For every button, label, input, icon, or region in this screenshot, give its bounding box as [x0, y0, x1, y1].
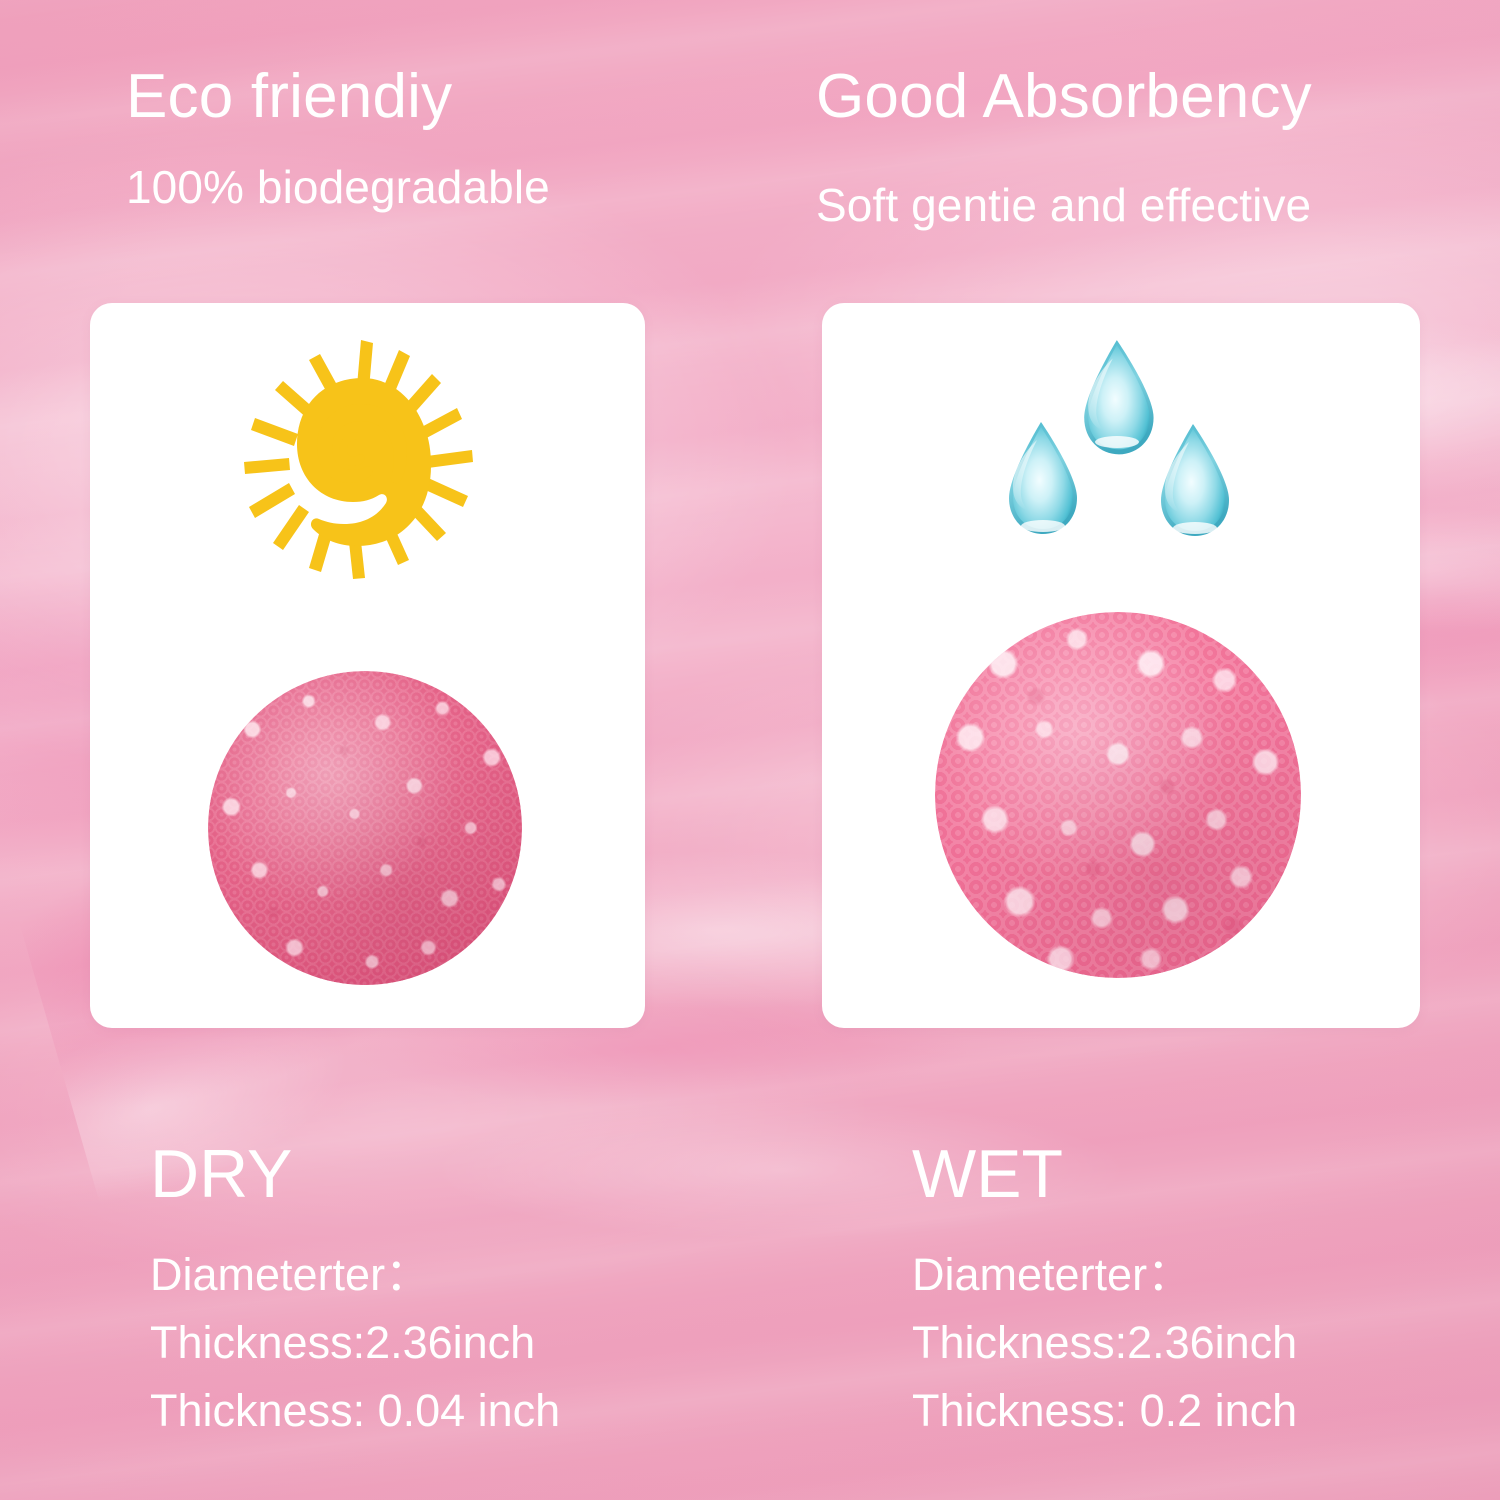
infographic-stage: Eco friendiy 100% biodegradable Good Abs… — [0, 0, 1500, 1500]
sun-icon — [243, 338, 483, 586]
eco-friendly-subtitle: 100% biodegradable — [126, 164, 550, 210]
dry-sponge-disc — [208, 671, 522, 985]
dry-spec-diameter: Diameterter： — [150, 1252, 430, 1297]
dry-spec-thickness-inch: Thickness:2.36inch — [150, 1320, 535, 1365]
dry-sponge-shading — [208, 671, 522, 985]
dry-column-label: DRY — [150, 1140, 292, 1208]
droplet-right — [1161, 424, 1229, 536]
wet-spec-thickness-inch: Thickness:2.36inch — [912, 1320, 1297, 1365]
wet-sponge-disc — [935, 612, 1301, 978]
water-droplets-icon — [995, 330, 1240, 552]
eco-friendly-title: Eco friendiy — [126, 66, 452, 128]
wet-sponge-shading — [935, 612, 1301, 978]
wet-spec-thickness: Thickness: 0.2 inch — [912, 1388, 1297, 1433]
wet-spec-diameter: Diameterter： — [912, 1252, 1192, 1297]
droplet-top — [1084, 340, 1153, 454]
droplet-left — [1009, 422, 1077, 534]
good-absorbency-subtitle: Soft gentie and effective — [816, 182, 1311, 228]
dry-spec-thickness: Thickness: 0.04 inch — [150, 1388, 560, 1433]
wet-column-label: WET — [912, 1140, 1063, 1208]
good-absorbency-title: Good Absorbency — [816, 66, 1312, 128]
